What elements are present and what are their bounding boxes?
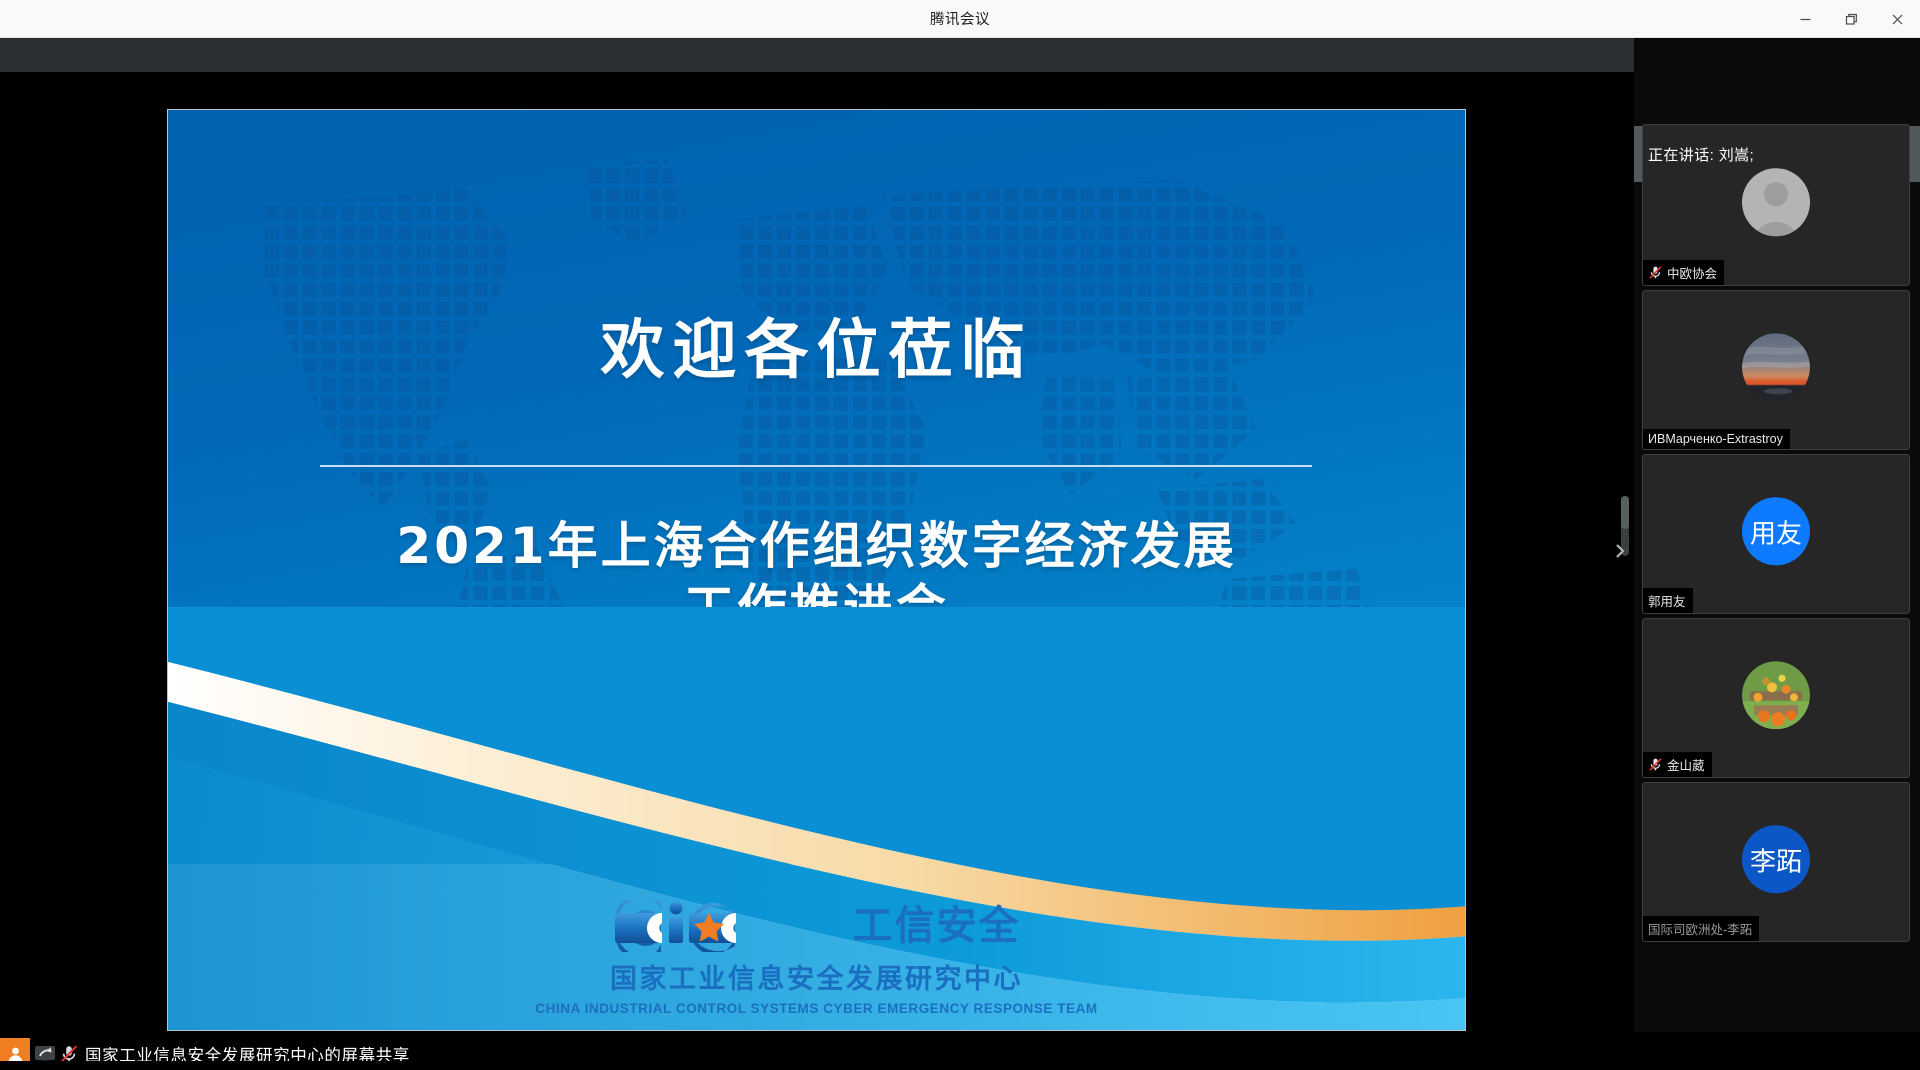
- participant-name: 中欧协会: [1667, 263, 1717, 282]
- participants-panel: 正在讲话: 刘嵩; 中欧协会: [1634, 38, 1920, 1032]
- mic-muted-icon: [1648, 265, 1663, 280]
- avatar: [1742, 661, 1810, 729]
- shared-screen-stage[interactable]: 欢迎各位莅临 2021年上海合作组织数字经济发展 工作推进会: [0, 38, 1634, 1000]
- avatar: 用友: [1742, 497, 1810, 565]
- window-controls: [1782, 0, 1920, 38]
- avatar-initials: 用友: [1750, 513, 1802, 550]
- participant-name-bar: 中欧协会: [1643, 260, 1724, 285]
- slide-divider: [320, 465, 1312, 467]
- participant-name: ИВМарченко-Extrastroy: [1648, 432, 1783, 446]
- participant-tile[interactable]: ИВМарченко-Extrastroy: [1642, 290, 1910, 450]
- close-button[interactable]: [1874, 0, 1920, 38]
- slide-logo-block: 工信安全 国家工业信息安全发展研究中心 CHINA INDUSTRIAL CON…: [168, 900, 1465, 1016]
- avatar: 李跖: [1742, 825, 1810, 893]
- stage-bottom-filler: [0, 1061, 1634, 1070]
- shared-slide: 欢迎各位莅临 2021年上海合作组织数字经济发展 工作推进会: [167, 109, 1466, 1031]
- logo-mark-cn: 工信安全: [853, 906, 1021, 946]
- restore-button[interactable]: [1828, 0, 1874, 38]
- window-title-bar: 腾讯会议: [0, 0, 1920, 38]
- avatar-initials: 李跖: [1750, 841, 1802, 878]
- stage-scrollbar-thumb[interactable]: [1621, 496, 1629, 529]
- participant-name-bar: 国际司欧洲处-李跖: [1643, 916, 1759, 941]
- logo-org-cn: 国家工业信息安全发展研究中心: [168, 957, 1465, 996]
- remote-toolbar-strip: [0, 38, 1634, 72]
- participant-tile[interactable]: 李跖 国际司欧洲处-李跖: [1642, 782, 1910, 942]
- cic-logo-icon: [613, 900, 843, 952]
- avatar: [1742, 168, 1810, 236]
- mic-muted-icon: [1648, 757, 1663, 772]
- minimize-button[interactable]: [1782, 0, 1828, 38]
- avatar: [1742, 333, 1810, 401]
- participant-name-bar: 金山葳: [1643, 752, 1712, 777]
- participant-name: 国际司欧洲处-李跖: [1648, 919, 1752, 938]
- chevron-right-icon[interactable]: [1612, 538, 1628, 564]
- participant-name-bar: 郭用友: [1643, 588, 1693, 613]
- slide-subtitle-line1: 2021年上海合作组织数字经济发展: [396, 517, 1236, 575]
- logo-org-en: CHINA INDUSTRIAL CONTROL SYSTEMS CYBER E…: [168, 1001, 1465, 1016]
- participant-tile[interactable]: 用友 郭用友: [1642, 454, 1910, 614]
- active-speaker-text: 正在讲话: 刘嵩;: [1648, 144, 1754, 165]
- participant-name: 郭用友: [1648, 591, 1686, 610]
- slide-main-title: 欢迎各位莅临: [168, 299, 1465, 391]
- window-title: 腾讯会议: [930, 8, 990, 29]
- participant-tile[interactable]: 金山葳: [1642, 618, 1910, 778]
- participant-name-bar: ИВМарченко-Extrastroy: [1643, 429, 1790, 449]
- participant-name: 金山葳: [1667, 755, 1705, 774]
- participant-tile-list[interactable]: 中欧协会: [1634, 182, 1920, 1032]
